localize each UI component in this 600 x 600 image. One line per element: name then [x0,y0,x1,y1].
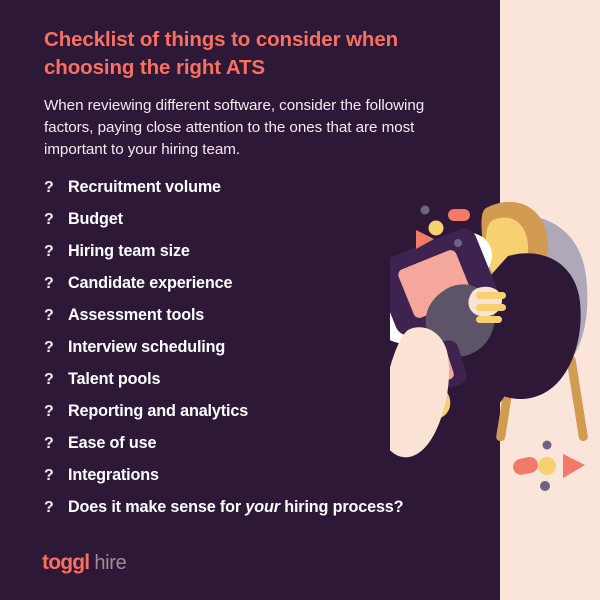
checklist-item[interactable]: ?Interview scheduling [44,338,474,370]
checklist-item[interactable]: ?Candidate experience [44,274,474,306]
question-mark-icon: ? [44,435,68,453]
checklist-item[interactable]: ?Does it make sense for your hiring proc… [44,498,474,530]
emphasis-word: your [245,498,279,516]
question-mark-icon: ? [44,467,68,485]
text-content-block: Checklist of things to consider when cho… [44,26,464,160]
checklist-item-label: Talent pools [68,370,160,389]
question-mark-icon: ? [44,371,68,389]
checklist-item-label: Candidate experience [68,274,232,293]
question-mark-icon: ? [44,179,68,197]
checklist-item[interactable]: ?Integrations [44,466,474,498]
question-mark-icon: ? [44,275,68,293]
checklist-item-label: Budget [68,210,123,229]
dot-gray-icon [540,481,550,491]
page-title: Checklist of things to consider when cho… [44,26,464,81]
checklist-item[interactable]: ?Talent pools [44,370,474,402]
checklist-item-label: Reporting and analytics [68,402,248,421]
checklist-item-label: Hiring team size [68,242,190,261]
checklist-item-label: Ease of use [68,434,156,453]
question-mark-icon: ? [44,403,68,421]
checklist-item[interactable]: ?Recruitment volume [44,178,474,210]
question-mark-icon: ? [44,243,68,261]
poster-canvas: Checklist of things to consider when cho… [0,0,600,600]
checklist-item-label: Integrations [68,466,159,485]
question-mark-icon: ? [44,499,68,517]
checklist-item-label: Assessment tools [68,306,204,325]
checklist-item[interactable]: ?Assessment tools [44,306,474,338]
checklist-item-label: Interview scheduling [68,338,225,357]
logo-primary-text: toggl [42,551,89,575]
checklist-item[interactable]: ?Ease of use [44,434,474,466]
checklist-item[interactable]: ?Reporting and analytics [44,402,474,434]
dot-gray-icon [543,441,552,450]
checklist: ?Recruitment volume?Budget?Hiring team s… [44,178,474,530]
checklist-item-label: Recruitment volume [68,178,221,197]
logo-secondary-text: hire [94,552,126,575]
question-mark-icon: ? [44,339,68,357]
triangle-coral-icon [563,454,585,478]
checklist-item[interactable]: ?Hiring team size [44,242,474,274]
question-mark-icon: ? [44,307,68,325]
page-subtext: When reviewing different software, consi… [44,95,464,160]
circle-yellow-icon [538,457,556,475]
confetti-cluster-bottom [505,430,600,520]
checklist-item[interactable]: ?Budget [44,210,474,242]
toggl-hire-logo[interactable]: toggl hire [42,551,126,575]
pill-coral-icon [512,455,540,476]
checklist-item-label: Does it make sense for your hiring proce… [68,498,403,517]
question-mark-icon: ? [44,211,68,229]
